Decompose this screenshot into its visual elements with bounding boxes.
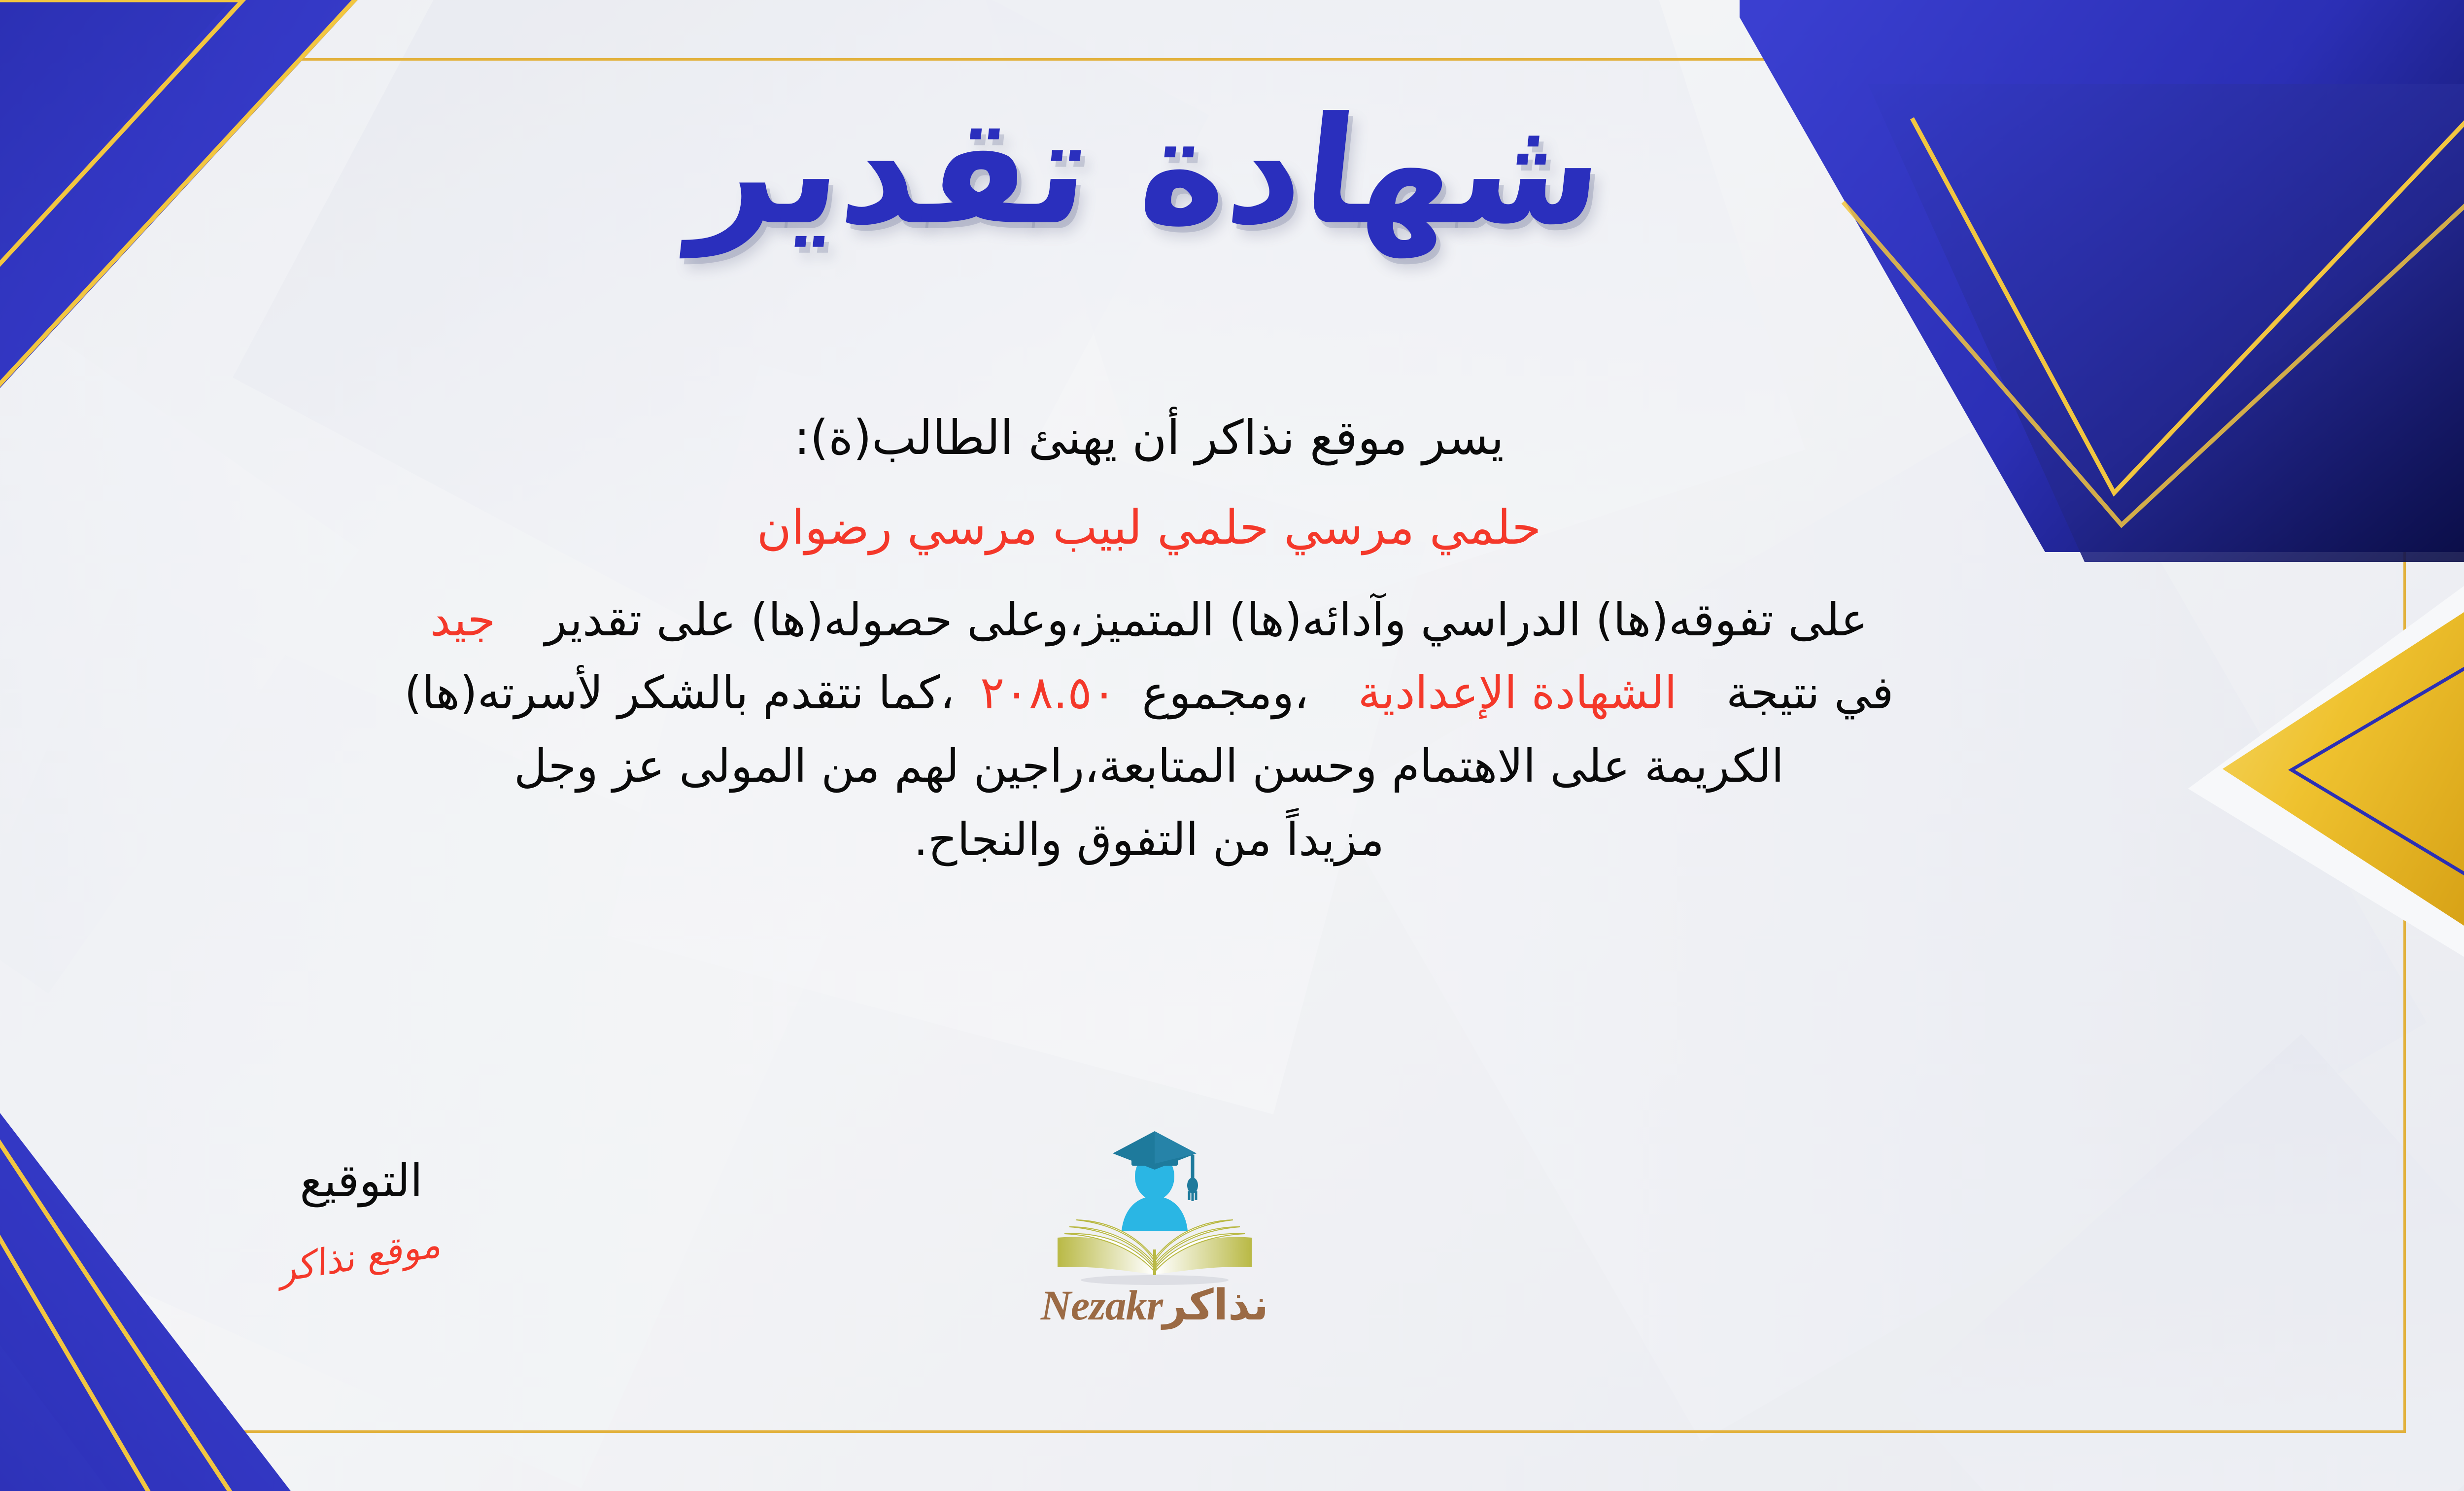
- thanks-text: ،كما نتقدم بالشكر لأسرته(ها): [404, 666, 955, 719]
- exam-name: الشهادة الإعدادية: [1358, 666, 1677, 719]
- certificate-body: يسر موقع نذاكر أن يهنئ الطالب(ة): حلمي م…: [0, 404, 2365, 872]
- brand-wordmark: نذاكرNezakr: [982, 1284, 1327, 1326]
- closing-line: مزيداً من التفوق والنجاح.: [0, 808, 2365, 872]
- certificate-page: شهادة تقدير يسر موقع نذاكر أن يهنئ الطال…: [0, 0, 2464, 1491]
- certificate-title-text: شهادة تقدير: [685, 79, 1613, 264]
- merit-prefix-text: على تفوقه(ها) الدراسي وآدائه(ها) المتميز…: [545, 593, 1868, 646]
- intro-line: يسر موقع نذاكر أن يهنئ الطالب(ة):: [0, 404, 2365, 471]
- brand-name-latin: Nezakr: [1041, 1282, 1163, 1329]
- signature-label: التوقيع: [223, 1158, 499, 1204]
- total-label: ،ومجموع: [1142, 666, 1308, 719]
- family-line: الكريمة على الاهتمام وحسن المتابعة،راجين…: [0, 734, 2365, 799]
- graduate-book-icon: [1039, 1126, 1270, 1289]
- brand-logo: نذاكرNezakr: [982, 1126, 1327, 1326]
- result-prefix-text: في نتيجة: [1726, 666, 1894, 719]
- result-line: في نتيجةالشهادة الإعدادية،ومجموع٢٠٨.٥٠،ك…: [0, 661, 2365, 726]
- brand-name-arabic: نذاكر: [1163, 1281, 1268, 1330]
- signature-area: التوقيع موقع نذاكر: [223, 1158, 499, 1275]
- certificate-title: شهادة تقدير: [0, 79, 2464, 264]
- student-name: حلمي مرسي حلمي لبيب مرسي رضوان: [0, 494, 2365, 561]
- total-score: ٢٠٨.٥٠: [980, 666, 1116, 719]
- merit-line: على تفوقه(ها) الدراسي وآدائه(ها) المتميز…: [0, 588, 2365, 653]
- grade-value: جيد: [430, 593, 496, 646]
